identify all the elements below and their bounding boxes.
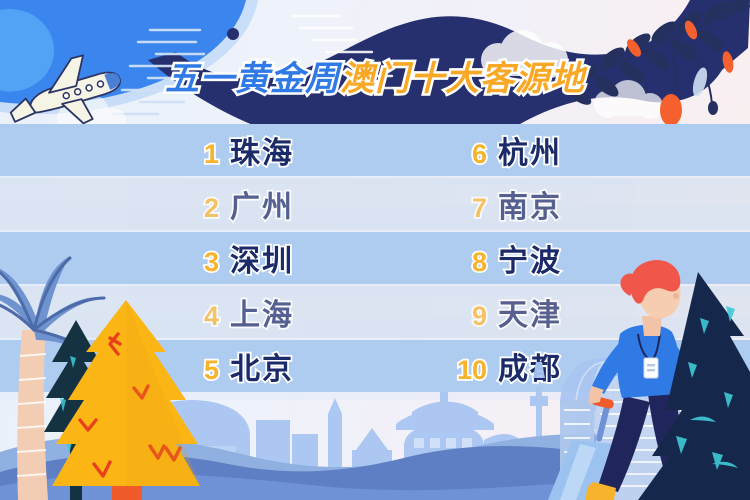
rank-cell-7: 7 南京 (453, 182, 673, 226)
city-name: 北京 (230, 344, 294, 388)
rank-number: 3 (185, 247, 219, 278)
title-blue-part: 五一黄金周 (165, 56, 340, 102)
rank-cell-6: 6 杭州 (453, 128, 673, 172)
rank-number: 6 (453, 139, 487, 170)
rank-cell-2: 2 广州 (185, 182, 435, 226)
table-row[interactable]: 2 广州 7 南京 (0, 178, 750, 230)
rank-number: 10 (453, 355, 487, 386)
title-gold-part: 澳门十大客源地 (340, 56, 585, 102)
city-name: 上海 (230, 290, 294, 334)
city-name: 天津 (498, 290, 562, 334)
city-name: 广州 (230, 182, 294, 226)
suitcase-icon (548, 395, 616, 500)
rank-cell-1: 1 珠海 (185, 128, 435, 172)
rank-cell-5: 5 北京 (185, 344, 435, 388)
rank-number: 8 (453, 247, 487, 278)
rank-number: 2 (185, 193, 219, 224)
rank-number: 5 (185, 355, 219, 386)
city-name: 宁波 (498, 236, 562, 280)
table-row[interactable]: 3 深圳 8 宁波 (0, 232, 750, 284)
table-row[interactable]: 5 北京 10 成都 (0, 340, 750, 392)
rank-number: 1 (185, 139, 219, 170)
rank-number: 4 (185, 301, 219, 332)
city-name: 南京 (498, 182, 562, 226)
rank-cell-3: 3 深圳 (185, 236, 435, 280)
ranking-list: 1 珠海 6 杭州 2 广州 7 南京 3 深圳 (0, 124, 750, 392)
city-name: 杭州 (498, 128, 562, 172)
infographic-poster: 五一黄金周澳门十大客源地 1 珠海 6 杭州 2 广州 7 南京 (0, 0, 750, 500)
page-title: 五一黄金周澳门十大客源地 (0, 56, 750, 102)
rank-cell-8: 8 宁波 (453, 236, 673, 280)
rank-cell-4: 4 上海 (185, 290, 435, 334)
city-name: 珠海 (230, 128, 294, 172)
table-row[interactable]: 4 上海 9 天津 (0, 286, 750, 338)
rank-cell-10: 10 成都 (453, 344, 673, 388)
rank-number: 9 (453, 301, 487, 332)
city-name: 深圳 (230, 236, 294, 280)
rank-cell-9: 9 天津 (453, 290, 673, 334)
rank-number: 7 (453, 193, 487, 224)
table-row[interactable]: 1 珠海 6 杭州 (0, 124, 750, 176)
city-name: 成都 (498, 344, 562, 388)
